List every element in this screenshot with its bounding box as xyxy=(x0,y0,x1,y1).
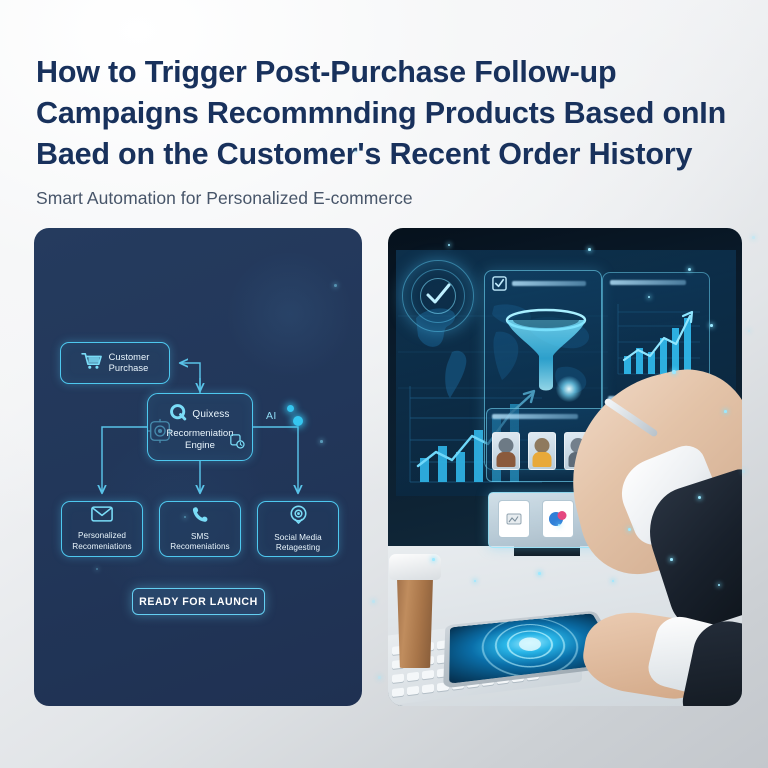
target-icon xyxy=(289,505,308,529)
check-icon xyxy=(421,280,455,312)
node-customer-purchase-label: Customer Purchase xyxy=(109,352,150,375)
product-tile[interactable] xyxy=(498,500,530,538)
flow-diagram-panel: Customer Purchase xyxy=(34,228,362,706)
customer-card-title xyxy=(492,414,578,419)
ready-for-launch-button[interactable]: READY FOR LAUNCH xyxy=(132,588,265,615)
node-personalized-email-label: Personalized Recomeniations xyxy=(72,531,131,552)
header: How to Trigger Post-Purchase Follow-up C… xyxy=(36,52,742,209)
growth-card-header xyxy=(610,280,686,285)
node-customer-purchase[interactable]: Customer Purchase xyxy=(60,342,170,384)
coffee-cup xyxy=(394,576,436,668)
funnel-card-header xyxy=(492,276,596,291)
ai-badge-label: AI xyxy=(266,410,277,422)
shopping-cart-icon xyxy=(81,352,103,375)
avatar xyxy=(535,438,550,453)
spark-dot xyxy=(334,284,337,287)
data-sync-icon xyxy=(230,434,245,454)
phone-icon xyxy=(192,506,209,528)
customer-card[interactable] xyxy=(492,432,520,470)
infographic-page: How to Trigger Post-Purchase Follow-up C… xyxy=(0,0,768,768)
page-title-line-1: How to Trigger Post-Purchase Follow-up xyxy=(36,52,742,93)
avatar-body xyxy=(533,452,552,467)
ai-node-dot xyxy=(293,416,303,426)
spark-dot xyxy=(184,516,186,518)
checkbox-icon xyxy=(492,276,507,291)
product-tile[interactable] xyxy=(542,500,574,538)
spark-dot xyxy=(96,568,98,570)
growth-card-title-text xyxy=(610,280,686,285)
quixess-q-logo-icon xyxy=(170,404,187,426)
page-subtitle: Smart Automation for Personalized E-comm… xyxy=(36,188,742,209)
avatar xyxy=(499,438,514,453)
funnel-card-title-text xyxy=(512,281,586,286)
funnel-light-beam xyxy=(556,376,582,402)
ai-node-dot xyxy=(287,405,294,412)
flow-connectors xyxy=(34,228,362,706)
spark-dot xyxy=(320,440,323,443)
node-recommendation-engine[interactable]: Quixess Recormeniation Engine xyxy=(147,393,253,461)
page-title-line-3: Baed on the Customer's Recent Order Hist… xyxy=(36,134,742,175)
node-social-retargeting-label: Social Media Retagesting xyxy=(274,533,321,554)
engine-brand-name: Quixess xyxy=(192,409,229,420)
page-title-line-2: Campaigns Recommnding Products Based onI… xyxy=(36,93,742,134)
customer-card[interactable] xyxy=(528,432,556,470)
node-personalized-email[interactable]: Personalized Recomeniations xyxy=(61,501,143,557)
envelope-icon xyxy=(91,506,113,527)
product-thumb-icon xyxy=(547,509,569,529)
avatar-body xyxy=(497,452,516,467)
product-thumb-icon xyxy=(505,510,523,528)
node-social-retargeting[interactable]: Social Media Retagesting xyxy=(257,501,339,557)
ready-for-launch-label: READY FOR LAUNCH xyxy=(139,596,258,608)
node-sms-recommendations-label: SMS Recomeniations xyxy=(170,532,229,553)
customer-card-title-text xyxy=(492,414,578,419)
node-sms-recommendations[interactable]: SMS Recomeniations xyxy=(159,501,241,557)
engine-brand-row: Quixess xyxy=(170,404,229,426)
engine-subtitle: Recormeniation Engine xyxy=(166,428,233,453)
hero-photo-panel xyxy=(388,228,742,706)
